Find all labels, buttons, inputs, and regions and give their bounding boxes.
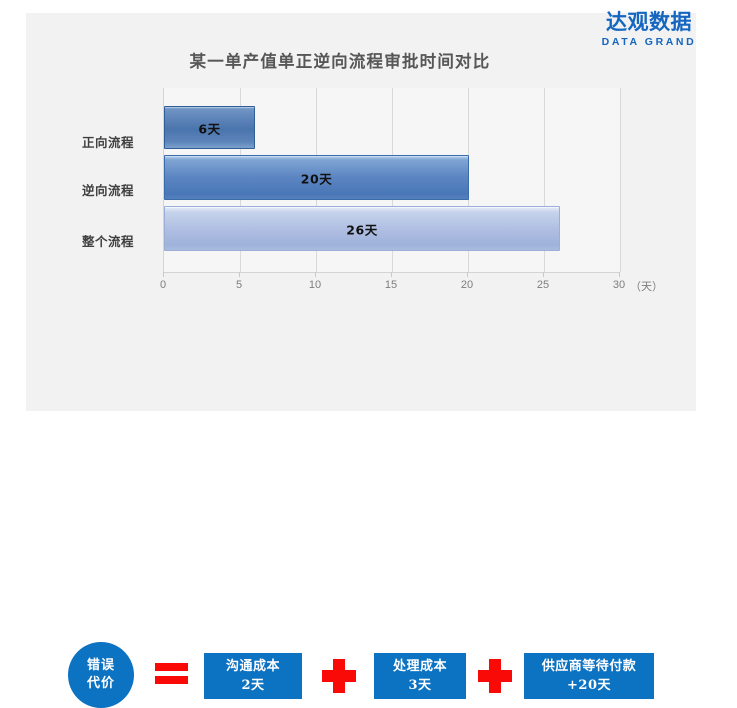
- error-cost-line1: 错误: [87, 657, 115, 675]
- plus-icon-1: [322, 659, 356, 693]
- error-cost-line2: 代价: [87, 675, 115, 693]
- cost-formula: 错误 代价 沟通成本 2天 处理成本 3天 供应商等待付款 +20天: [0, 318, 737, 398]
- bar-whole-process[interactable]: 26天: [164, 206, 560, 251]
- x-tick-label-25: 25: [528, 279, 558, 291]
- cost-box-processing-line1: 处理成本: [393, 657, 447, 676]
- category-label-reverse: 逆向流程: [62, 180, 154, 199]
- plus-horizontal-bar: [322, 670, 356, 682]
- cost-box-communication-line1: 沟通成本: [226, 657, 280, 676]
- cost-box-communication[interactable]: 沟通成本 2天: [204, 653, 302, 699]
- x-tick-label-5: 5: [224, 279, 254, 291]
- x-tick-20: [467, 272, 468, 277]
- bar-reverse-process[interactable]: 20天: [164, 155, 469, 200]
- cost-box-processing-line2: 3天: [408, 676, 431, 695]
- category-label-whole: 整个流程: [62, 231, 154, 250]
- plus-horizontal-bar: [478, 670, 512, 682]
- x-tick-label-15: 15: [376, 279, 406, 291]
- category-label-forward: 正向流程: [62, 132, 154, 151]
- cost-box-supplier-wait-line1: 供应商等待付款: [542, 657, 637, 676]
- x-tick-label-10: 10: [300, 279, 330, 291]
- bar-label-reverse: 20天: [165, 168, 468, 187]
- plot-area: 6天 20天 26天: [163, 88, 621, 272]
- x-tick-30: [619, 272, 620, 277]
- equals-bar-top: [155, 663, 188, 671]
- equals-icon: [155, 663, 188, 685]
- equals-bar-bottom: [155, 676, 188, 684]
- x-tick-label-0: 0: [148, 279, 178, 291]
- x-tick-0: [163, 272, 164, 277]
- x-axis-unit-label: （天）: [630, 278, 663, 294]
- cost-box-supplier-wait-line2: +20天: [567, 676, 611, 695]
- bar-label-whole: 26天: [165, 219, 559, 238]
- x-tick-15: [391, 272, 392, 277]
- x-tick-label-20: 20: [452, 279, 482, 291]
- error-cost-circle[interactable]: 错误 代价: [68, 642, 134, 708]
- cost-box-supplier-wait[interactable]: 供应商等待付款 +20天: [524, 653, 654, 699]
- bar-chart: 6天 20天 26天 0 5 10 15 20 25 30 （天） 正向流程 逆…: [0, 0, 737, 310]
- x-tick-5: [239, 272, 240, 277]
- plus-icon-2: [478, 659, 512, 693]
- bar-label-forward: 6天: [165, 118, 254, 137]
- x-tick-10: [315, 272, 316, 277]
- gridline-30: [620, 88, 621, 272]
- x-tick-25: [543, 272, 544, 277]
- cost-box-processing[interactable]: 处理成本 3天: [374, 653, 466, 699]
- bar-forward-process[interactable]: 6天: [164, 106, 255, 149]
- cost-box-communication-line2: 2天: [241, 676, 264, 695]
